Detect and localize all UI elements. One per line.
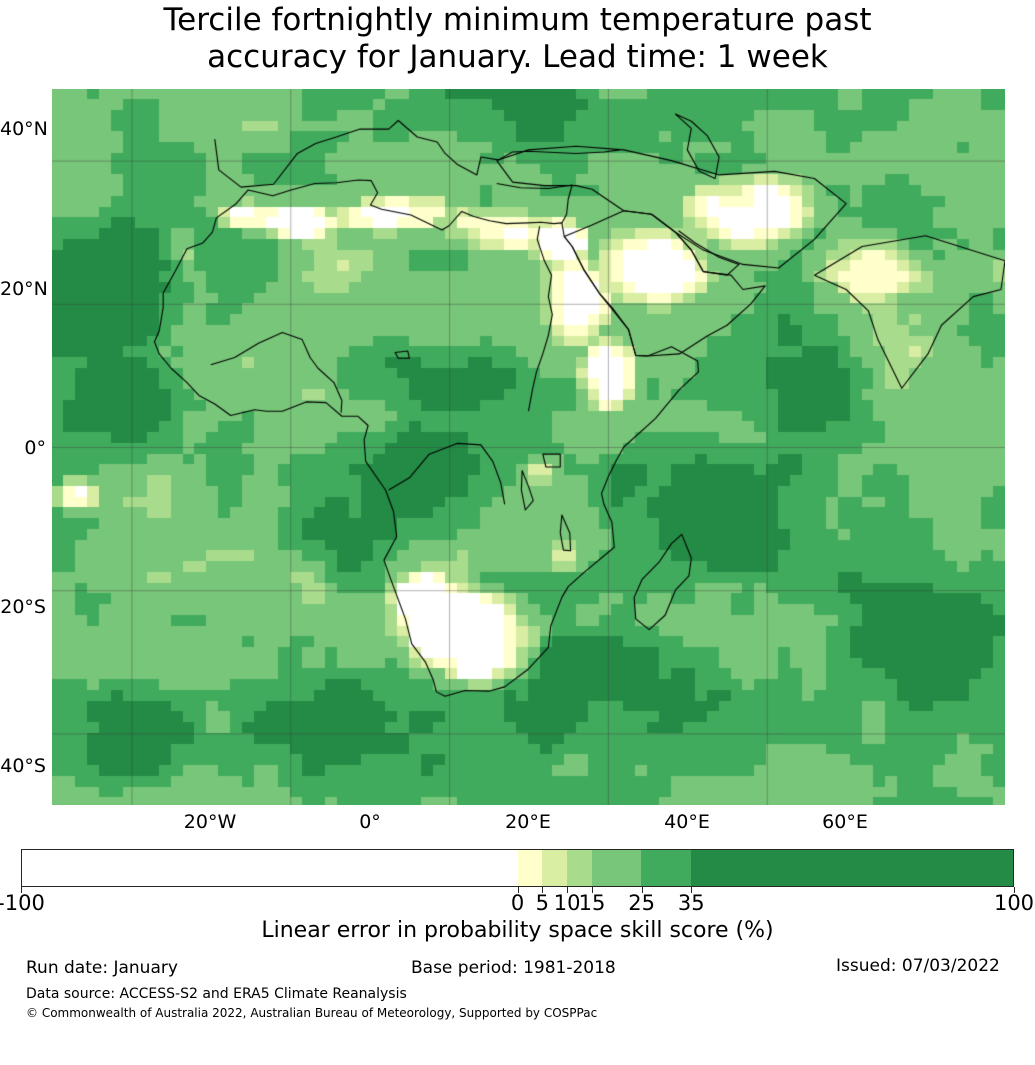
colorbar-band-2 xyxy=(542,850,567,886)
colorbar-band-6 xyxy=(691,850,1013,886)
x-tick-label: 40°E xyxy=(664,811,710,833)
colorbar-band-5 xyxy=(641,850,691,886)
colorbar-tick-label: 0 xyxy=(511,891,524,915)
x-tick-label: 60°E xyxy=(822,811,868,833)
colorbar-band-4 xyxy=(592,850,642,886)
colorbar-tick-label: 35 xyxy=(678,891,705,915)
copyright-text: © Commonwealth of Australia 2022, Austra… xyxy=(26,1006,597,1020)
colorbar-tick-label: 5 xyxy=(536,891,549,915)
y-tick-label: 20°S xyxy=(0,596,46,618)
colorbar-tick-label: 25 xyxy=(628,891,655,915)
colorbar-band-0 xyxy=(22,850,518,886)
y-tick-label: 40°N xyxy=(0,118,46,140)
skill-score-heatmap xyxy=(52,89,1005,805)
data-source-text: Data source: ACCESS-S2 and ERA5 Climate … xyxy=(26,986,407,1002)
x-tick-label: 20°E xyxy=(505,811,551,833)
colorbar-band-3 xyxy=(567,850,592,886)
colorbar-title: Linear error in probability space skill … xyxy=(0,918,1035,943)
y-tick-label: 20°N xyxy=(0,278,46,300)
map-plot-area xyxy=(52,89,1005,805)
run-date-text: Run date: January xyxy=(26,958,178,978)
colorbar-band-1 xyxy=(518,850,543,886)
base-period-text: Base period: 1981-2018 xyxy=(411,958,616,978)
colorbar-tick-label: 15 xyxy=(579,891,606,915)
x-tick-label: 20°W xyxy=(184,811,236,833)
y-tick-label: 0° xyxy=(0,437,46,459)
colorbar-tick-label: -100 xyxy=(0,891,45,915)
colorbar-tick-label: 100 xyxy=(994,891,1034,915)
colorbar-tick-label: 10 xyxy=(554,891,581,915)
x-tick-label: 0° xyxy=(359,811,381,833)
issued-date-text: Issued: 07/03/2022 xyxy=(836,956,1000,976)
colorbar xyxy=(21,849,1014,887)
y-tick-label: 40°S xyxy=(0,755,46,777)
page-title: Tercile fortnightly minimum temperature … xyxy=(0,2,1035,76)
